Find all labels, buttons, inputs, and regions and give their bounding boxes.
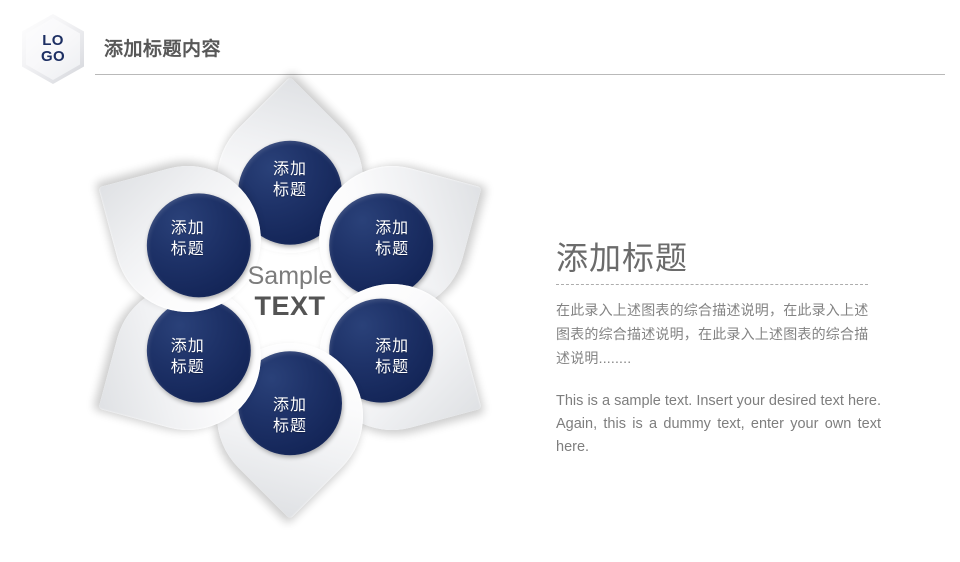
page-title: 添加标题内容 — [104, 34, 221, 61]
petal-upper-left[interactable]: 添加 标题 — [98, 150, 277, 329]
logo-text: LO GO — [22, 14, 84, 84]
dashed-divider — [556, 284, 868, 285]
petal-diagram: 添加 标题 添加 标题 添加 标题 添加 标题 添加 标题 添加 标题 Samp… — [80, 88, 500, 508]
page-header: LO GO 添加标题内容 — [0, 0, 960, 92]
logo-line-1: LO — [42, 33, 63, 49]
description-panel: 添加标题 在此录入上述图表的综合描述说明，在此录入上述图表的综合描述说明，在此录… — [556, 240, 886, 460]
header-divider — [95, 74, 945, 75]
petal-label: 添加 标题 — [115, 166, 261, 312]
section-title: 添加标题 — [556, 240, 886, 278]
description-chinese: 在此录入上述图表的综合描述说明，在此录入上述图表的综合描述说明，在此录入上述图表… — [556, 298, 878, 370]
logo-line-2: GO — [41, 49, 65, 65]
logo-badge: LO GO — [22, 14, 84, 84]
description-english: This is a sample text. Insert your desir… — [556, 390, 881, 460]
